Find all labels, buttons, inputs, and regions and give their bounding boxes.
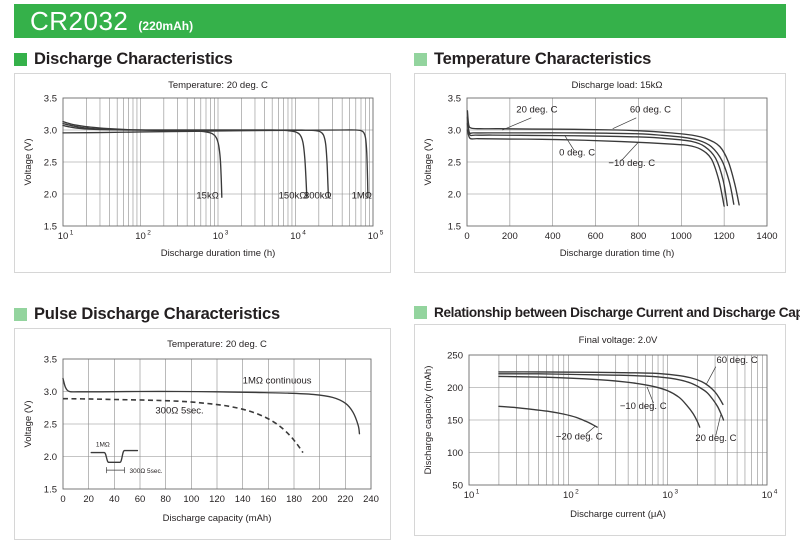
x-axis-label: Discharge capacity (mAh): [163, 513, 272, 524]
series-annotation-label: 1MΩ: [352, 190, 372, 201]
x-tick-label: 20: [83, 494, 94, 505]
y-axis-label: Discharge capacity (mAh): [423, 366, 434, 475]
inset-label-pulse: 300Ω 5sec.: [129, 468, 162, 475]
x-tick-label: 10: [135, 231, 146, 242]
y-tick-label: 100: [447, 448, 463, 459]
chart-svg-current-capacity: Final voltage: 2.0V101102103104501001502…: [415, 325, 785, 535]
y-tick-label: 2.5: [44, 419, 57, 430]
y-tick-label: 3.5: [44, 354, 57, 365]
x-tick-exponent: 1: [476, 489, 480, 496]
y-tick-label: 150: [447, 415, 463, 426]
x-tick-label: 240: [363, 494, 379, 505]
x-tick-label: 10: [464, 490, 475, 501]
chart-title-current-capacity: Relationship between Discharge Current a…: [414, 305, 786, 320]
chart-heading-text: Relationship between Discharge Current a…: [434, 305, 800, 320]
chart-condition-label: Temperature: 20 deg. C: [167, 339, 267, 350]
chart-title-temperature: Temperature Characteristics: [414, 50, 786, 69]
datasheet-page: CR2032 (220mAh) Discharge Characteristic…: [0, 0, 800, 553]
x-tick-label: 400: [545, 231, 561, 242]
data-curve-60-deg-c: [467, 111, 739, 205]
chart-title-discharge: Discharge Characteristics: [14, 50, 391, 69]
annotation-leader-line: [613, 118, 637, 129]
series-annotation-label: 1MΩ continuous: [243, 376, 312, 387]
data-curve-150k-: [63, 124, 307, 198]
x-axis-label: Discharge current (μA): [570, 509, 666, 520]
chart-title-pulse: Pulse Discharge Characteristics: [14, 305, 391, 324]
y-tick-label: 2.5: [448, 157, 461, 168]
x-tick-label: 1000: [671, 231, 692, 242]
chart-panel-temperature: Discharge load: 15kΩ02004006008001000120…: [414, 73, 786, 273]
y-axis-label: Voltage (V): [423, 139, 434, 186]
y-tick-label: 3.0: [448, 125, 461, 136]
x-tick-label: 10: [563, 490, 574, 501]
x-tick-label: 10: [762, 490, 773, 501]
x-tick-label: 120: [209, 494, 225, 505]
x-tick-label: 140: [235, 494, 251, 505]
series-annotation-label: 20 deg. C: [695, 433, 736, 444]
series-annotation-label: 15kΩ: [196, 190, 218, 201]
chart-heading-text: Temperature Characteristics: [434, 50, 651, 69]
x-tick-exponent: 3: [225, 230, 229, 237]
chart-panel-discharge: Temperature: 20 deg. C1011021031041051.5…: [14, 73, 391, 273]
product-model-title: CR2032: [30, 4, 128, 38]
chart-block-current-capacity: Relationship between Discharge Current a…: [414, 305, 786, 536]
y-tick-label: 2.0: [448, 189, 461, 200]
x-tick-label: 1200: [714, 231, 735, 242]
x-tick-label: 10: [213, 231, 224, 242]
chart-panel-current-capacity: Final voltage: 2.0V101102103104501001502…: [414, 324, 786, 536]
y-tick-label: 2.0: [44, 452, 57, 463]
chart-panel-pulse: Temperature: 20 deg. C020406080100120140…: [14, 328, 391, 540]
bullet-square-icon: [14, 308, 27, 321]
x-tick-label: 600: [588, 231, 604, 242]
x-tick-label: 40: [109, 494, 120, 505]
y-tick-label: 1.5: [44, 221, 57, 232]
y-axis-label: Voltage (V): [23, 139, 34, 186]
inset-label-resistance: 1MΩ: [96, 442, 110, 449]
x-tick-exponent: 2: [147, 230, 151, 237]
y-tick-label: 2.5: [44, 157, 57, 168]
x-tick-exponent: 4: [774, 489, 778, 496]
y-axis-label: Voltage (V): [23, 401, 34, 448]
x-tick-exponent: 5: [380, 230, 384, 237]
chart-condition-label: Discharge load: 15kΩ: [571, 80, 662, 91]
x-tick-label: 1400: [756, 231, 777, 242]
chart-heading-text: Pulse Discharge Characteristics: [34, 305, 280, 324]
series-annotation-label: 300kΩ: [304, 190, 332, 201]
x-tick-label: 800: [630, 231, 646, 242]
y-tick-label: 3.0: [44, 387, 57, 398]
y-tick-label: 2.0: [44, 189, 57, 200]
bullet-square-icon: [14, 53, 27, 66]
chart-condition-label: Final voltage: 2.0V: [579, 335, 658, 346]
y-tick-label: 1.5: [44, 484, 57, 495]
chart-svg-temperature: Discharge load: 15kΩ02004006008001000120…: [415, 74, 785, 272]
x-tick-label: 10: [662, 490, 673, 501]
series-annotation-label: 20 deg. C: [516, 105, 557, 116]
data-curve-0-deg-c: [467, 124, 727, 206]
x-tick-label: 200: [312, 494, 328, 505]
x-axis-label: Discharge duration time (h): [560, 248, 675, 259]
data-curve--20-deg-c: [499, 406, 597, 427]
series-annotation-label: −10 deg. C: [608, 158, 655, 169]
chart-block-temperature: Temperature Characteristics Discharge lo…: [414, 50, 786, 273]
x-tick-label: 220: [337, 494, 353, 505]
x-tick-label: 0: [60, 494, 65, 505]
x-tick-label: 80: [160, 494, 171, 505]
x-tick-exponent: 4: [302, 230, 306, 237]
y-tick-label: 3.5: [44, 93, 57, 104]
series-annotation-label: −10 deg. C: [620, 401, 667, 412]
x-tick-label: 0: [464, 231, 469, 242]
data-curve-300k-: [63, 126, 328, 198]
chart-block-discharge: Discharge Characteristics Temperature: 2…: [14, 50, 391, 273]
series-annotation-label: 0 deg. C: [559, 148, 595, 159]
y-tick-label: 3.0: [44, 125, 57, 136]
x-tick-exponent: 3: [674, 489, 678, 496]
chart-condition-label: Temperature: 20 deg. C: [168, 80, 268, 91]
data-curve-1m-continuous: [63, 379, 359, 434]
x-tick-label: 160: [260, 494, 276, 505]
annotation-leader-line: [706, 367, 715, 385]
y-tick-label: 1.5: [448, 221, 461, 232]
y-tick-label: 50: [452, 480, 463, 491]
annotation-leader-line: [502, 118, 531, 130]
series-annotation-label: 300Ω 5sec.: [155, 406, 203, 417]
chart-heading-text: Discharge Characteristics: [34, 50, 233, 69]
bullet-square-icon: [414, 53, 427, 66]
x-axis-label: Discharge duration time (h): [161, 248, 276, 259]
bullet-square-icon: [414, 306, 427, 319]
chart-block-pulse: Pulse Discharge Characteristics Temperat…: [14, 305, 391, 540]
product-capacity-label: (220mAh): [138, 9, 193, 43]
x-tick-exponent: 1: [70, 230, 74, 237]
y-tick-label: 250: [447, 350, 463, 361]
x-tick-label: 100: [183, 494, 199, 505]
data-curve-1m-: [63, 130, 368, 197]
series-annotation-label: 150kΩ: [279, 190, 307, 201]
product-header-banner: CR2032 (220mAh): [14, 4, 786, 38]
chart-svg-pulse: Temperature: 20 deg. C020406080100120140…: [15, 329, 390, 539]
x-tick-label: 10: [368, 231, 379, 242]
chart-svg-discharge: Temperature: 20 deg. C1011021031041051.5…: [15, 74, 390, 272]
x-tick-exponent: 2: [575, 489, 579, 496]
y-tick-label: 200: [447, 383, 463, 394]
x-tick-label: 200: [502, 231, 518, 242]
series-annotation-label: −20 deg. C: [556, 432, 603, 443]
pulse-waveform-inset: 1MΩ300Ω 5sec.: [91, 442, 163, 475]
x-tick-label: 10: [58, 231, 69, 242]
series-annotation-label: 60 deg. C: [716, 355, 757, 366]
y-tick-label: 3.5: [448, 93, 461, 104]
series-annotation-label: 60 deg. C: [630, 105, 671, 116]
x-tick-label: 60: [135, 494, 146, 505]
x-tick-label: 180: [286, 494, 302, 505]
x-tick-label: 10: [290, 231, 301, 242]
